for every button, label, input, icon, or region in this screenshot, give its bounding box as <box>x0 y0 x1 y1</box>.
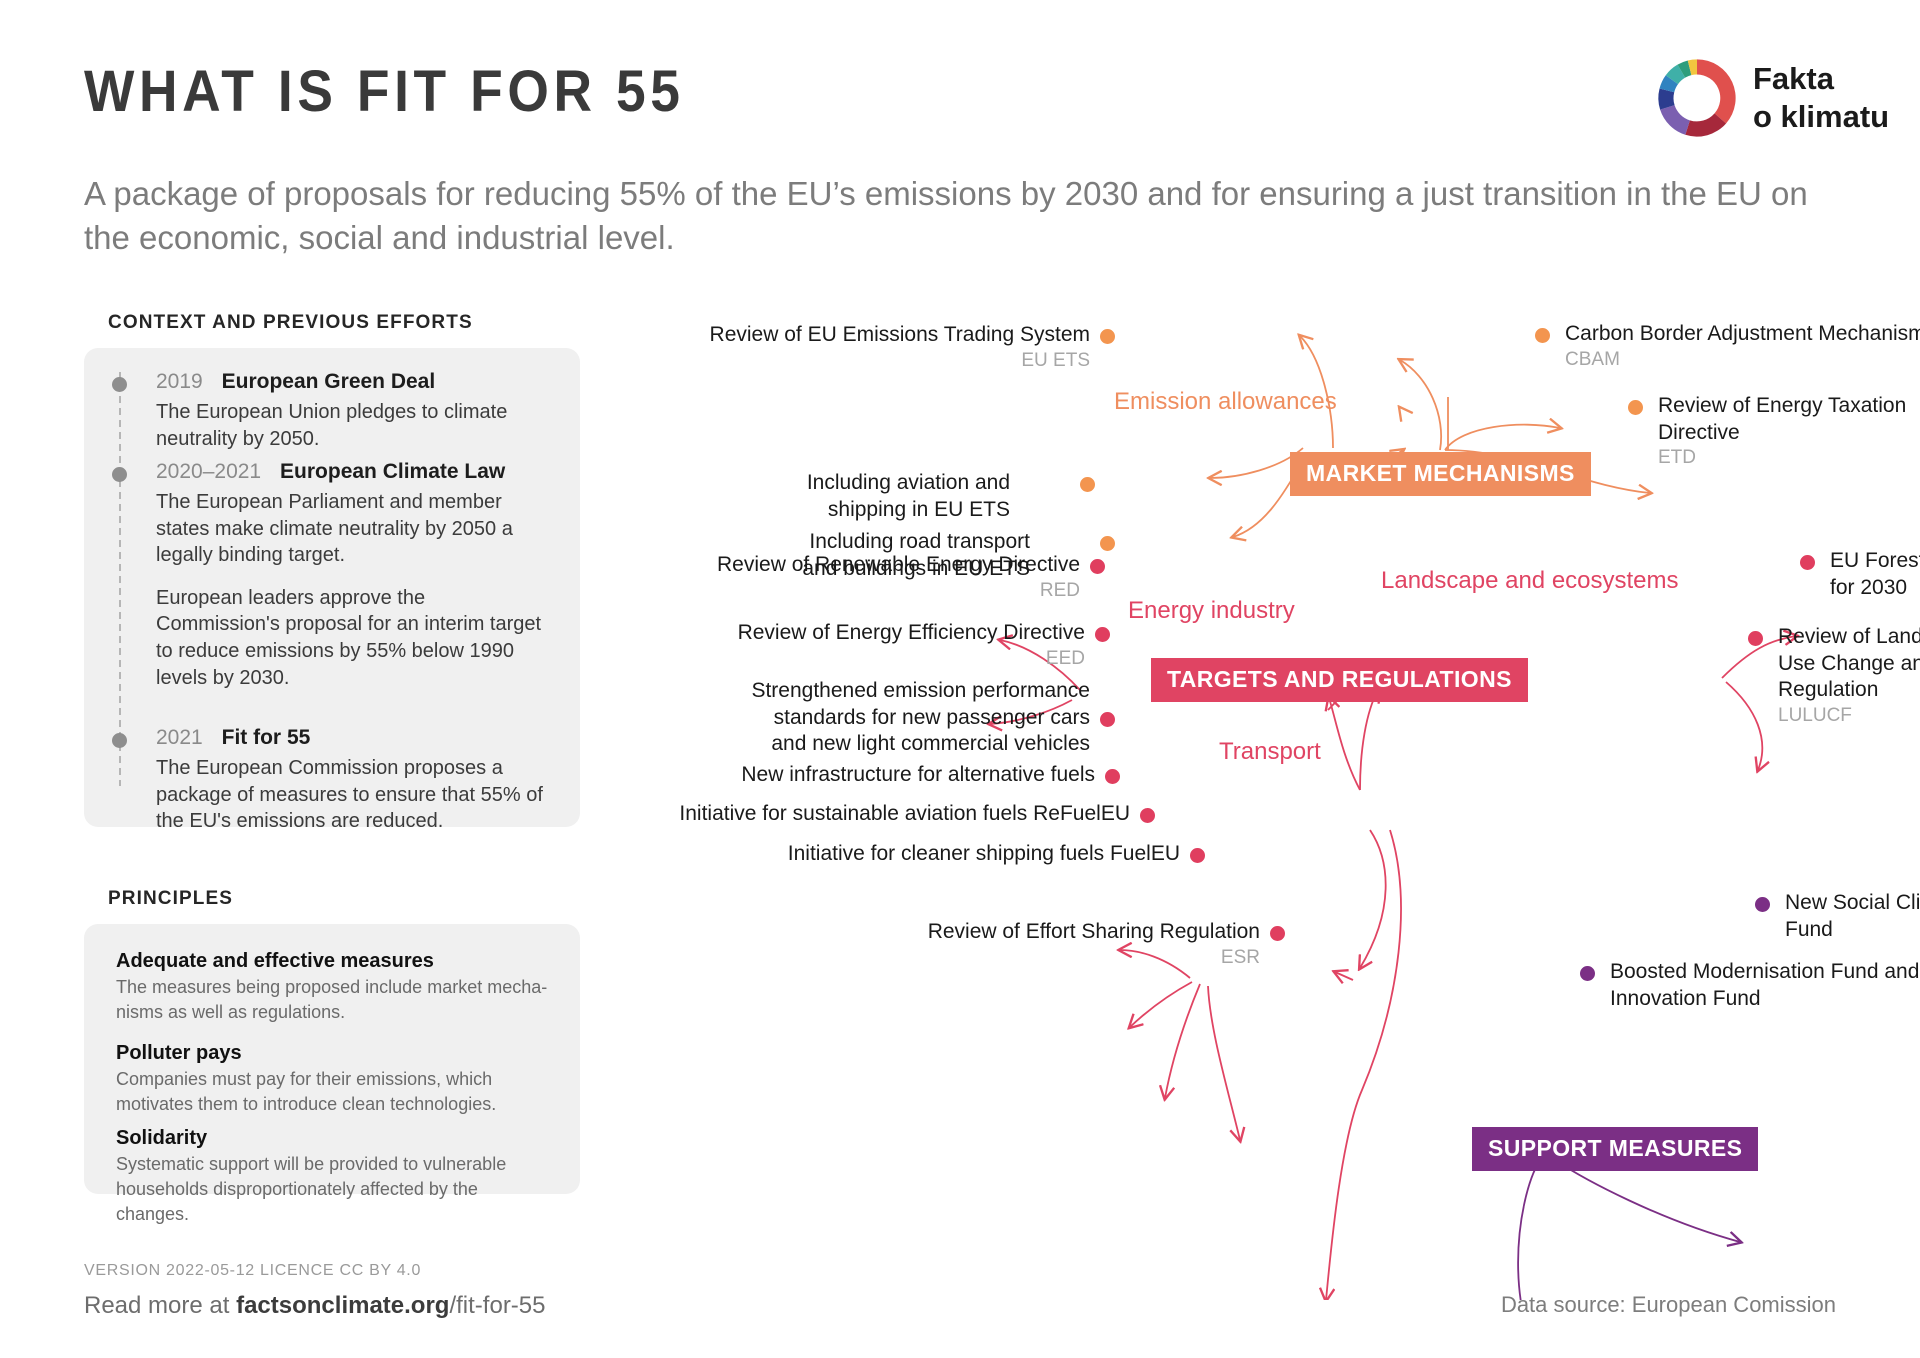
node-dot-icon <box>1800 555 1815 570</box>
logo-wordmark: Fakta o klimatu <box>1753 60 1889 136</box>
node-abbr: LULUCF <box>1778 705 1920 727</box>
timeline-head: 2020–2021 European Climate Law <box>118 460 548 484</box>
node-passenger-car-standards[interactable]: Strengthened emission performance standa… <box>600 678 1090 758</box>
subcategory-emission-allowances[interactable]: Emission allowances <box>1114 388 1337 416</box>
principle-solidarity: Solidarity Systematic support will be pr… <box>116 1127 554 1228</box>
principle-title: Polluter pays <box>116 1042 554 1065</box>
timeline-item-2020-2021: 2020–2021 European Climate Law The Europ… <box>118 460 548 691</box>
page-title: WHAT IS FIT FOR 55 <box>84 58 685 125</box>
node-abbr: EU ETS <box>600 350 1090 372</box>
timeline-item-2021: 2021 Fit for 55 The European Commission … <box>118 726 548 835</box>
node-dot-icon <box>1100 536 1115 551</box>
node-dot-icon <box>1100 712 1115 727</box>
node-label: Boosted Modernisation Fund and Innovatio… <box>1610 959 1920 1012</box>
node-dot-icon <box>1080 477 1095 492</box>
node-eu-forest-strategy[interactable]: EU Forest Strategy for 2030 <box>1830 548 1920 601</box>
node-modernisation-innovation-fund[interactable]: Boosted Modernisation Fund and Innovatio… <box>1610 959 1920 1012</box>
logo-line-2: o klimatu <box>1753 98 1889 136</box>
node-dot-icon <box>1535 328 1550 343</box>
principle-title: Adequate and effective measures <box>116 950 554 973</box>
page-header: WHAT IS FIT FOR 55 A package of proposal… <box>0 0 1920 270</box>
node-eed[interactable]: Review of Energy Efficiency Directive EE… <box>600 620 1085 670</box>
mindmap-diagram: MARKET MECHANISMS TARGETS AND REGULATION… <box>600 300 1920 1300</box>
node-dot-icon <box>1748 631 1763 646</box>
node-abbr: EED <box>600 648 1085 670</box>
node-lulucf[interactable]: Review of Land Use, Land Use Change and … <box>1778 624 1920 727</box>
node-eu-ets[interactable]: Review of EU Emissions Trading System EU… <box>600 322 1090 372</box>
principles-section-heading: PRINCIPLES <box>108 888 233 910</box>
node-aviation-shipping-ets[interactable]: Including aviation and shipping in EU ET… <box>660 470 1010 523</box>
read-more-link[interactable]: Read more at factsonclimate.org/fit-for-… <box>84 1292 546 1320</box>
node-etd[interactable]: Review of Energy Taxation Directive ETD <box>1658 393 1920 469</box>
context-section-heading: CONTEXT AND PREVIOUS EFFORTS <box>108 312 473 334</box>
timeline-name: Fit for 55 <box>222 726 311 749</box>
timeline-bullet-icon <box>112 467 127 482</box>
node-label: Carbon Border Adjustment Mechanism <box>1565 321 1920 348</box>
node-label: Including aviation and shipping in EU ET… <box>660 470 1010 523</box>
timeline-year: 2021 <box>156 726 203 749</box>
read-more-path: /fit-for-55 <box>449 1292 545 1319</box>
node-fueleu[interactable]: Initiative for cleaner shipping fuels Fu… <box>600 841 1180 868</box>
node-cbam[interactable]: Carbon Border Adjustment Mechanism CBAM <box>1565 321 1920 371</box>
node-label: Review of Effort Sharing Regulation <box>600 919 1260 946</box>
node-dot-icon <box>1628 400 1643 415</box>
node-abbr: ESR <box>600 947 1260 969</box>
context-timeline-panel: 2019 European Green Deal The European Un… <box>84 348 580 827</box>
timeline-body: The European Parliament and member state… <box>118 489 548 569</box>
timeline-year: 2019 <box>156 370 203 393</box>
node-dot-icon <box>1755 897 1770 912</box>
timeline-name: European Green Deal <box>222 370 436 393</box>
page-subtitle: A package of proposals for reducing 55% … <box>84 172 1844 260</box>
node-esr[interactable]: Review of Effort Sharing Regulation ESR <box>600 919 1260 969</box>
timeline-bullet-icon <box>112 377 127 392</box>
node-abbr: RED <box>600 580 1080 602</box>
node-label: Review of Energy Taxation Directive <box>1658 393 1920 446</box>
data-source-note: Data source: European Comission <box>1501 1292 1836 1318</box>
node-label: Initiative for cleaner shipping fuels Fu… <box>600 841 1180 868</box>
node-label: Review of Renewable Energy Directive <box>600 552 1080 579</box>
timeline-year: 2020–2021 <box>156 460 261 483</box>
node-dot-icon <box>1190 848 1205 863</box>
logo: Fakta o klimatu <box>1655 52 1905 144</box>
principle-title: Solidarity <box>116 1127 554 1150</box>
timeline-bullet-icon <box>112 733 127 748</box>
principle-body: The measures being proposed include mark… <box>116 975 554 1025</box>
timeline-item-2019: 2019 European Green Deal The European Un… <box>118 370 548 452</box>
category-market-mechanisms[interactable]: MARKET MECHANISMS <box>1290 452 1591 496</box>
node-label: Initiative for sustainable aviation fuel… <box>600 801 1130 828</box>
timeline-head: 2021 Fit for 55 <box>118 726 548 750</box>
node-red[interactable]: Review of Renewable Energy Directive RED <box>600 552 1080 602</box>
node-dot-icon <box>1270 926 1285 941</box>
node-abbr: ETD <box>1658 447 1920 469</box>
node-dot-icon <box>1090 559 1105 574</box>
subcategory-energy-industry[interactable]: Energy industry <box>1128 597 1295 625</box>
version-and-licence: VERSION 2022-05-12 LICENCE CC BY 4.0 <box>84 1262 421 1280</box>
node-dot-icon <box>1580 966 1595 981</box>
timeline-name: European Climate Law <box>280 460 505 483</box>
node-label: Review of Energy Efficiency Directive <box>600 620 1085 647</box>
node-label: New Social Climate Fund <box>1785 890 1920 943</box>
principle-body: Companies must pay for their emissions, … <box>116 1067 554 1117</box>
principle-body: Systematic support will be provided to v… <box>116 1152 554 1228</box>
read-more-prefix: Read more at <box>84 1292 236 1319</box>
node-alternative-fuels-infrastructure[interactable]: New infrastructure for alternative fuels <box>600 762 1095 789</box>
node-social-climate-fund[interactable]: New Social Climate Fund <box>1785 890 1920 943</box>
subcategory-transport[interactable]: Transport <box>1219 738 1321 766</box>
principle-adequate-and-effective-measures: Adequate and effective measures The meas… <box>116 950 554 1025</box>
category-targets-and-regulations[interactable]: TARGETS AND REGULATIONS <box>1151 658 1528 702</box>
node-label: New infrastructure for alternative fuels <box>600 762 1095 789</box>
logo-line-1: Fakta <box>1753 60 1889 98</box>
timeline-head: 2019 European Green Deal <box>118 370 548 394</box>
timeline-body: The European Commission proposes a packa… <box>118 755 548 835</box>
timeline-body-secondary: European leaders approve the Commission'… <box>118 585 548 691</box>
category-support-measures[interactable]: SUPPORT MEASURES <box>1472 1127 1758 1171</box>
timeline-body: The European Union pledges to climate ne… <box>118 399 548 452</box>
node-refueleu[interactable]: Initiative for sustainable aviation fuel… <box>600 801 1130 828</box>
fakta-o-klimatu-donut-icon <box>1655 56 1739 140</box>
node-label: Review of Land Use, Land Use Change and … <box>1778 624 1920 704</box>
node-abbr: CBAM <box>1565 349 1920 371</box>
node-dot-icon <box>1140 808 1155 823</box>
node-dot-icon <box>1105 769 1120 784</box>
principle-polluter-pays: Polluter pays Companies must pay for the… <box>116 1042 554 1117</box>
node-label: Review of EU Emissions Trading System <box>600 322 1090 349</box>
read-more-domain: factsonclimate.org <box>236 1292 449 1319</box>
node-label: EU Forest Strategy for 2030 <box>1830 548 1920 601</box>
node-label: Strengthened emission performance standa… <box>600 678 1090 758</box>
node-dot-icon <box>1095 627 1110 642</box>
principles-panel: Adequate and effective measures The meas… <box>84 924 580 1194</box>
node-dot-icon <box>1100 329 1115 344</box>
subcategory-landscape-and-ecosystems[interactable]: Landscape and ecosystems <box>1381 567 1679 595</box>
